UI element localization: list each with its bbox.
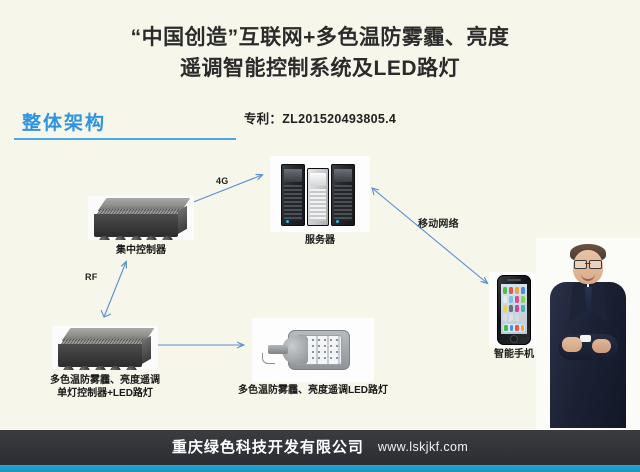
node-single-lamp-controller: 多色温防雾霾、亮度遥调 单灯控制器+LED路灯: [52, 326, 158, 398]
server-tower-center: [307, 168, 329, 226]
single-lamp-controller-side-face: [142, 336, 151, 364]
section-title: 整体架构: [22, 108, 106, 135]
footer-accent-strip: [0, 465, 640, 472]
smartphone-device: [497, 275, 531, 345]
title-line-1: “中国创造”互联网+多色温防雾霾、亮度: [131, 26, 510, 49]
phone-app-grid: [503, 287, 525, 321]
lamp-cable: [262, 353, 275, 364]
arrow-label-4g: 4G: [216, 176, 228, 186]
businessman-hand-right: [592, 339, 611, 353]
arrow-server-phone: [372, 188, 487, 283]
footer-bar: 重庆绿色科技开发有限公司 www.lskjkf.com: [0, 430, 640, 472]
section-underline: [14, 138, 236, 140]
phone-dock: [503, 324, 525, 332]
node-label-street-lamp: 多色温防雾霾、亮度遥调LED路灯: [238, 384, 388, 397]
node-label-single-lamp-controller-line2: 单灯控制器+LED路灯: [57, 387, 153, 400]
page-title: “中国创造”互联网+多色温防雾霾、亮度 遥调智能控制系统及LED路灯: [0, 22, 640, 84]
single-lamp-controller-front-face: [58, 344, 142, 367]
glasses-icon: [574, 260, 602, 267]
controller-front-face: [94, 214, 178, 237]
footer-company-name: 重庆绿色科技开发有限公司: [172, 436, 364, 457]
title-line-2: 遥调智能控制系统及LED路灯: [0, 53, 640, 84]
node-label-smartphone: 智能手机: [494, 348, 534, 361]
node-server: 服务器: [270, 156, 370, 246]
phone-home-button: [510, 335, 518, 343]
street-lamp-fixture: [262, 326, 364, 374]
arrow-controller-single-lamp: [104, 262, 126, 317]
node-street-lamp: 多色温防雾霾、亮度遥调LED路灯: [252, 318, 374, 404]
footer-website-url[interactable]: www.lskjkf.com: [378, 440, 468, 454]
slide-canvas: “中国创造”互联网+多色温防雾霾、亮度 遥调智能控制系统及LED路灯 专利：ZL…: [0, 0, 640, 472]
controller-side-face: [178, 206, 187, 234]
node-centralized-controller: 集中控制器: [88, 196, 194, 256]
phone-screen: [501, 284, 527, 334]
businessman-photo: [536, 238, 640, 430]
node-smartphone: 智能手机: [489, 272, 539, 368]
businessman-hand-left: [562, 337, 582, 352]
node-label-server: 服务器: [305, 234, 335, 247]
arrow-label-mobile-network: 移动网络: [418, 215, 459, 230]
server-tower-left: [281, 164, 305, 226]
controller-ports: [99, 236, 173, 240]
node-label-single-lamp-controller-line1: 多色温防雾霾、亮度遥调: [50, 374, 160, 387]
node-label-centralized-controller: 集中控制器: [116, 244, 166, 257]
server-tower-right: [331, 164, 355, 226]
single-lamp-controller-ports: [63, 366, 137, 370]
phone-speaker: [507, 279, 521, 281]
arrow-label-rf: RF: [85, 272, 97, 282]
